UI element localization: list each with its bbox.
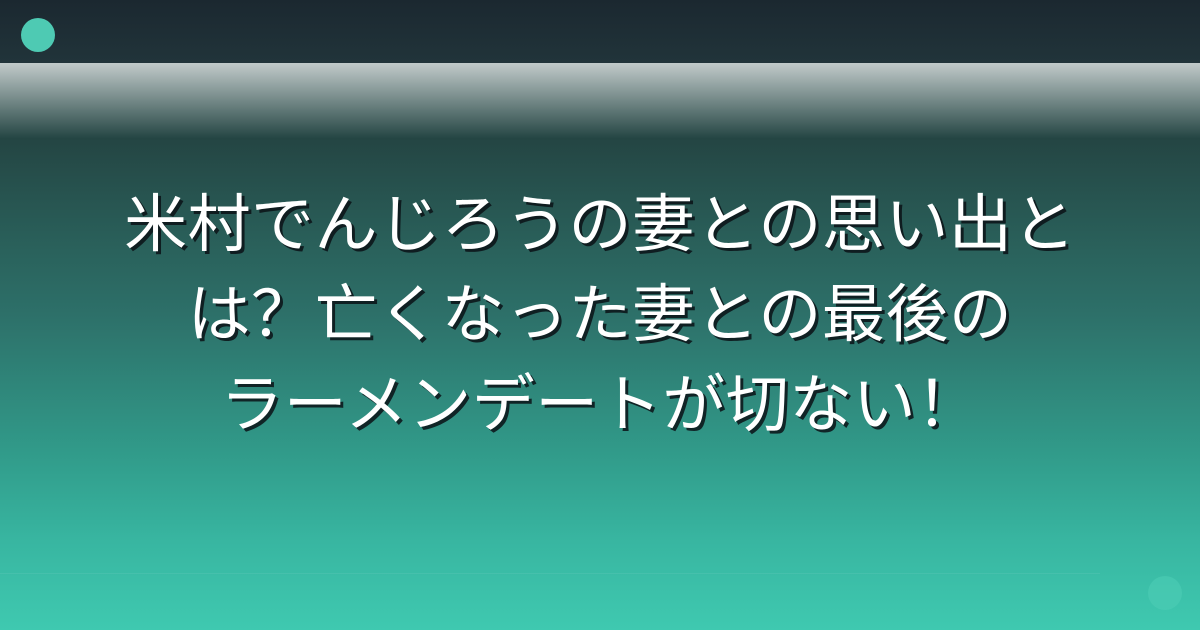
title-line-1: 米村でんじろうの妻との思い出と	[124, 180, 1076, 270]
title-line-3: ラーメンデートが切ない！	[220, 360, 979, 450]
title-block: 米村でんじろうの妻との思い出と は？亡くなった妻との最後の ラーメンデートが切な…	[0, 0, 1200, 630]
og-image-card: 米村でんじろうの妻との思い出と は？亡くなった妻との最後の ラーメンデートが切な…	[0, 0, 1200, 630]
title-line-2: は？亡くなった妻との最後の	[188, 270, 1013, 360]
